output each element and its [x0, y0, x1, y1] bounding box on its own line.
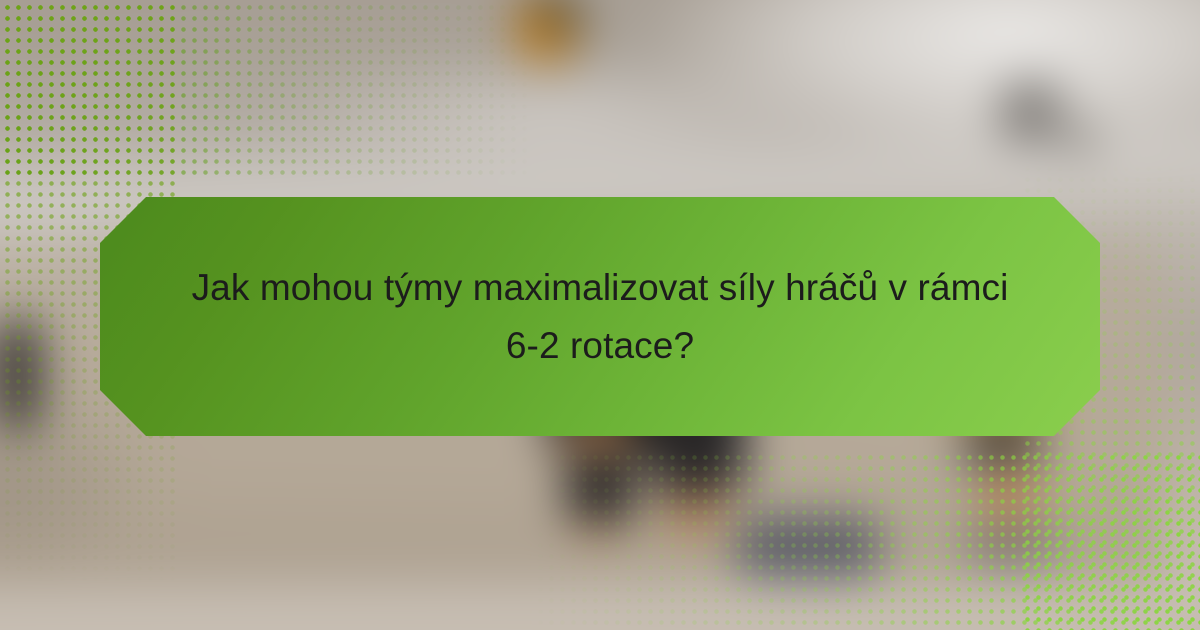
social-card: Jak mohou týmy maximalizovat síly hráčů …: [0, 0, 1200, 630]
headline-banner: Jak mohou týmy maximalizovat síly hráčů …: [100, 197, 1100, 436]
page-title: Jak mohou týmy maximalizovat síly hráčů …: [132, 259, 1068, 374]
background-figure-right: [1000, 81, 1060, 143]
